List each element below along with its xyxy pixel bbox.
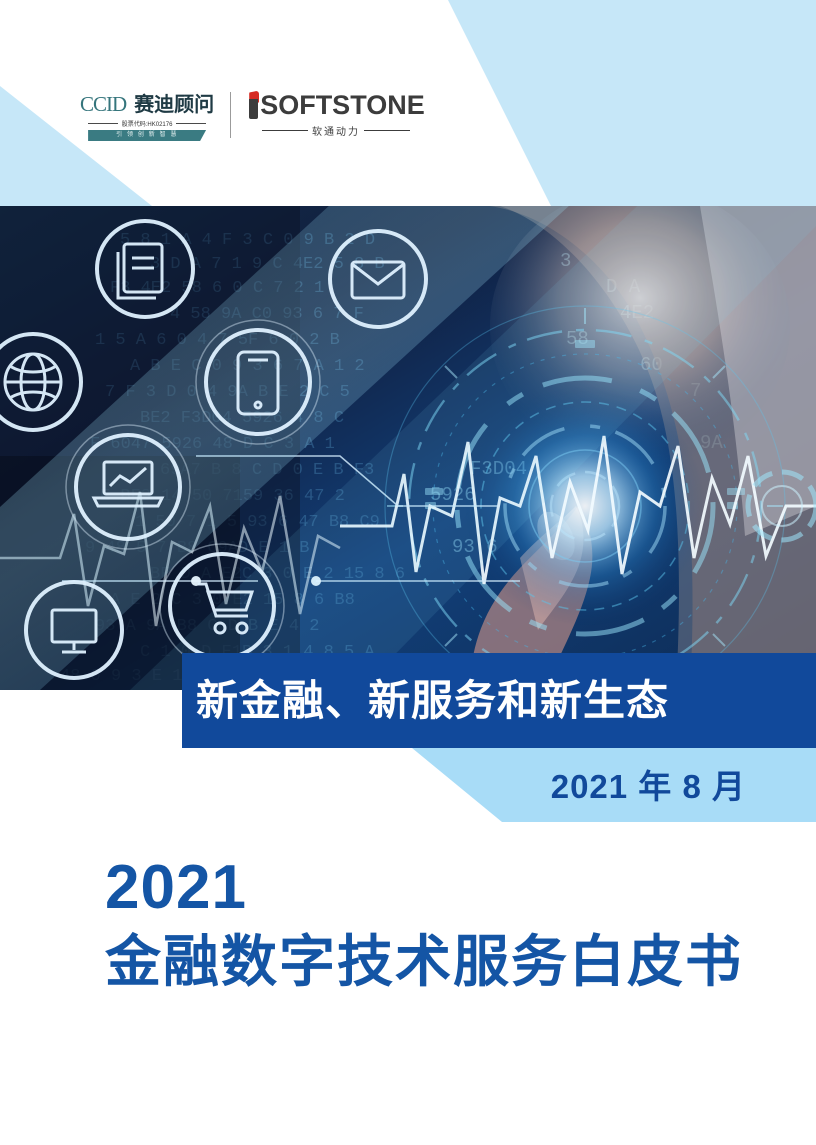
logo-divider bbox=[230, 92, 231, 138]
ccid-rule-right bbox=[176, 123, 206, 124]
ccid-tagline-ribbon: 引 领 创 新 智 慧 bbox=[88, 130, 206, 141]
isoftstone-word-rest: SOFTSTONE bbox=[260, 92, 425, 119]
isoftstone-subtitle-row: 软通动力 bbox=[262, 123, 410, 138]
isoftstone-rule-left bbox=[262, 130, 308, 131]
publication-date: 2021 年 8 月 bbox=[551, 760, 746, 808]
isoftstone-i-glyph-icon bbox=[247, 92, 260, 119]
isoftstone-i-stem bbox=[249, 99, 258, 119]
ccid-mark-text: CCID bbox=[80, 92, 126, 117]
isoftstone-logo: SOFTSTONE 软通动力 bbox=[247, 92, 425, 138]
ccid-stock-code-row: 股票代码:HK02176 bbox=[88, 119, 206, 128]
logo-bar: CCID 赛迪顾问 股票代码:HK02176 引 领 创 新 智 慧 SOFTS… bbox=[80, 88, 425, 141]
envelope-icon bbox=[330, 231, 426, 327]
decorative-shape-top-right bbox=[396, 0, 816, 206]
ccid-logo-row: CCID 赛迪顾问 bbox=[80, 88, 214, 117]
ccid-logo: CCID 赛迪顾问 股票代码:HK02176 引 领 创 新 智 慧 bbox=[80, 88, 214, 141]
cover-page: CCID 赛迪顾问 股票代码:HK02176 引 领 创 新 智 慧 SOFTS… bbox=[0, 0, 816, 1145]
isoftstone-wordmark: SOFTSTONE bbox=[247, 92, 425, 119]
main-title-block: 2021 金融数字技术服务白皮书 bbox=[105, 855, 743, 995]
laptop-chart-icon bbox=[66, 425, 190, 549]
ccid-stock-code: 股票代码:HK02176 bbox=[122, 119, 173, 128]
report-year: 2021 bbox=[105, 855, 743, 920]
ccid-chinese-name: 赛迪顾问 bbox=[134, 88, 214, 117]
isoftstone-rule-right bbox=[364, 130, 410, 131]
monitor-icon bbox=[26, 582, 122, 678]
smartphone-icon bbox=[196, 320, 320, 444]
shopping-cart-icon bbox=[160, 544, 284, 668]
hero-image: 5 8 1 A 4 F 3 C 0 9 B 2 D 3 D A 7 1 9 C … bbox=[0, 206, 816, 690]
document-icon bbox=[97, 221, 193, 317]
banner-title-text: 新金融、新服务和新生态 bbox=[196, 680, 669, 722]
isoftstone-chinese-name: 软通动力 bbox=[312, 123, 360, 138]
banner-title-bar: 新金融、新服务和新生态 bbox=[182, 653, 816, 748]
report-title: 金融数字技术服务白皮书 bbox=[105, 928, 743, 995]
globe-icon bbox=[0, 334, 81, 430]
ccid-rule-left bbox=[88, 123, 118, 124]
